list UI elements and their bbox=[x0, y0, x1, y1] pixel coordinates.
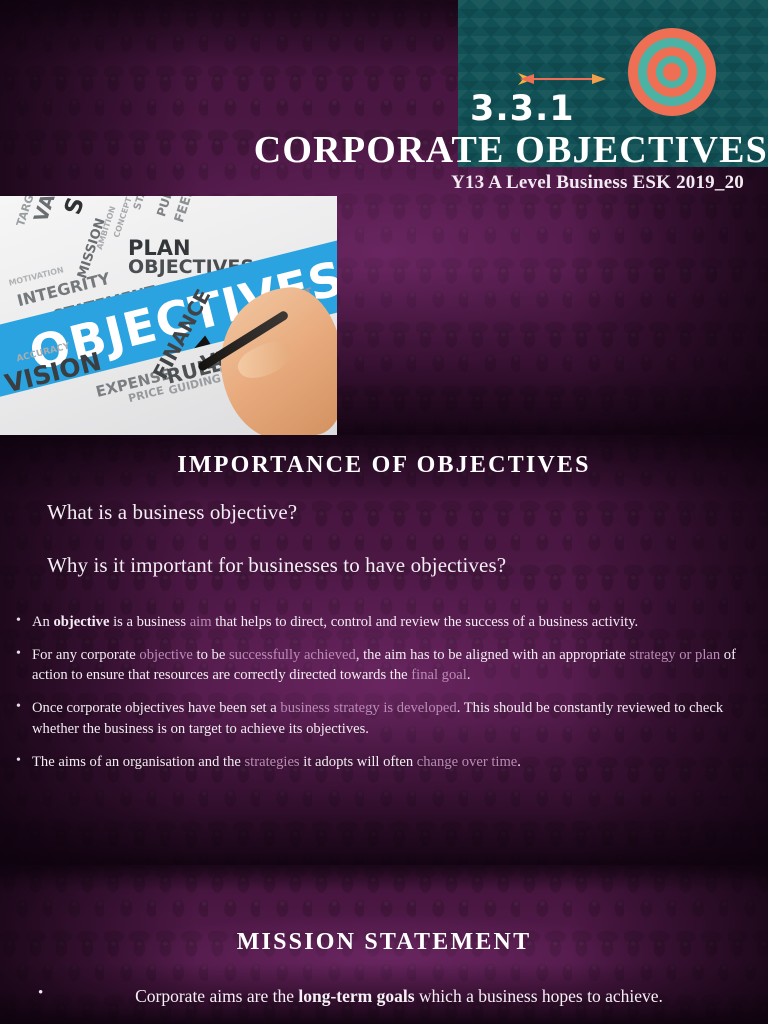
bullet-text-run: . bbox=[467, 667, 471, 683]
bullet-text-run: which a business hopes to achieve. bbox=[415, 986, 663, 1006]
list-item: Once corporate objectives have been set … bbox=[10, 698, 762, 739]
list-item: Corporate aims are the long-term goals w… bbox=[22, 985, 752, 1009]
bullet-text-run: successfully achieved bbox=[229, 647, 356, 663]
bullet-text-run: final goal bbox=[411, 667, 467, 683]
bullet-text-run: Once corporate objectives have been set … bbox=[32, 700, 280, 716]
importance-heading: IMPORTANCE OF OBJECTIVES bbox=[0, 452, 768, 479]
list-item: An objective is a business aim that help… bbox=[10, 612, 762, 633]
bullet-text-run: to be bbox=[193, 647, 229, 663]
bullet-text-run: . bbox=[517, 754, 521, 770]
bullet-text-run: objective bbox=[139, 647, 193, 663]
mission-bullet-list: Corporate aims are the long-term goals w… bbox=[22, 985, 752, 1009]
list-item: For any corporate objective to be succes… bbox=[10, 645, 762, 686]
page-subtitle: Y13 A Level Business ESK 2019_20 bbox=[0, 172, 768, 194]
bullet-text-run: For any corporate bbox=[32, 647, 139, 663]
bullet-text-run: An bbox=[32, 614, 54, 630]
bullet-text-run: objective bbox=[54, 614, 110, 630]
target-icon bbox=[628, 28, 716, 116]
bullet-text-run: business strategy is developed bbox=[280, 700, 456, 716]
objectives-word-cloud-image: STRATEGIC VALUE TARGET STANDARD PURPOSE … bbox=[0, 196, 337, 435]
bullet-text-run: strategies bbox=[245, 754, 300, 770]
bullet-text-run: it adopts will often bbox=[300, 754, 417, 770]
bullet-text-run: The aims of an organisation and the bbox=[32, 754, 245, 770]
arrow-icon bbox=[518, 70, 608, 88]
page-title: CORPORATE OBJECTIVES bbox=[0, 131, 768, 169]
importance-bullet-list: An objective is a business aim that help… bbox=[10, 612, 762, 784]
bullet-text-run: long-term goals bbox=[298, 986, 414, 1006]
section-number: 3.3.1 bbox=[470, 92, 575, 127]
list-item: The aims of an organisation and the stra… bbox=[10, 752, 762, 773]
bullet-text-run: Corporate aims are the bbox=[135, 986, 298, 1006]
question-1: What is a business objective? bbox=[47, 500, 297, 525]
bullet-text-run: is a business bbox=[109, 614, 189, 630]
bullet-text-run: that helps to direct, control and review… bbox=[212, 614, 639, 630]
title-slide: 3.3.1 CORPORATE OBJECTIVES Y13 A Level B… bbox=[0, 0, 768, 435]
bullet-text-run: change over time bbox=[417, 754, 518, 770]
bullet-text-run: , the aim has to be aligned with an appr… bbox=[356, 647, 630, 663]
mission-heading: MISSION STATEMENT bbox=[0, 929, 768, 956]
bullet-text-run: strategy or plan bbox=[629, 647, 720, 663]
bullet-text-run: aim bbox=[190, 614, 212, 630]
question-2: Why is it important for businesses to ha… bbox=[47, 553, 506, 578]
